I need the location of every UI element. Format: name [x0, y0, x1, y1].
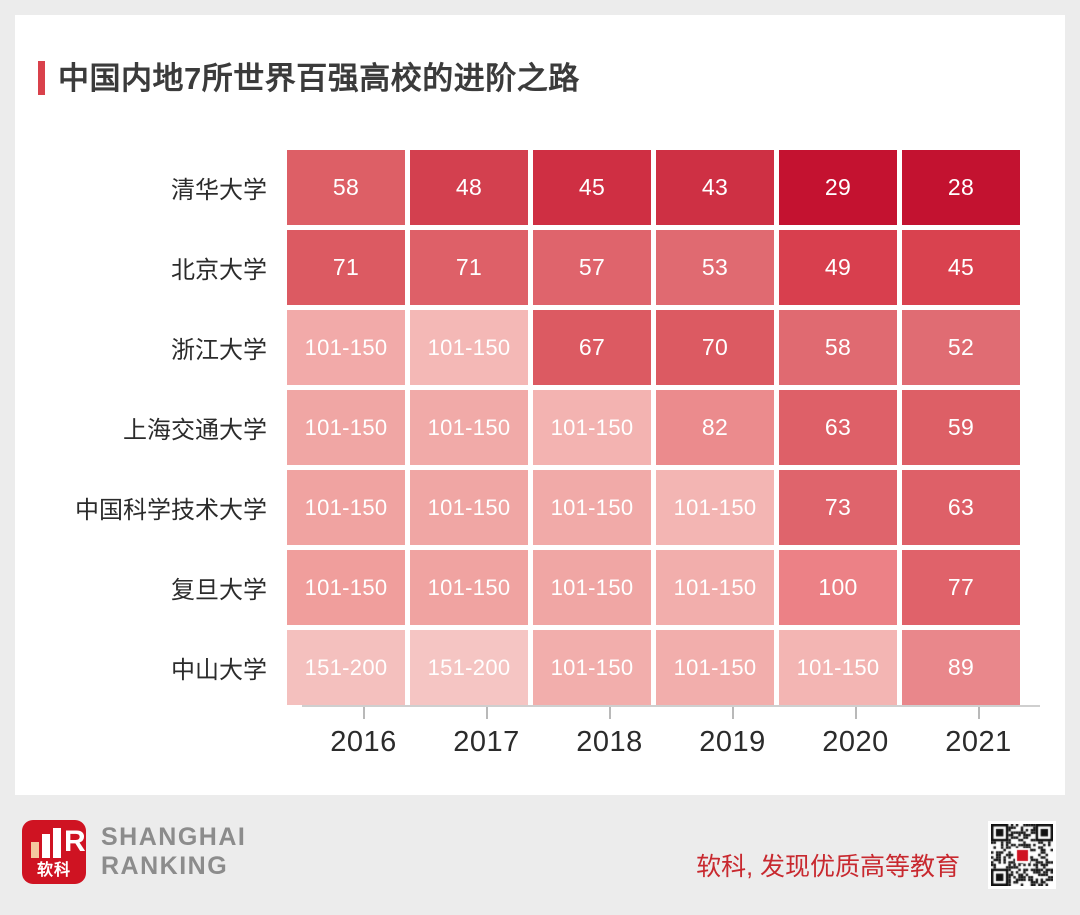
title-text: 中国内地7所世界百强高校的进阶之路 — [58, 63, 580, 94]
heatmap-cell[interactable]: 45 — [533, 150, 651, 225]
heatmap-cell[interactable]: 77 — [902, 550, 1020, 625]
logo-bar-3 — [53, 828, 61, 858]
x-tick: 2018 — [548, 707, 671, 759]
page-title: 中国内地7所世界百强高校的进阶之路 — [38, 55, 580, 101]
heatmap-row-cells: 101-150101-150101-150101-15010077 — [287, 550, 1020, 625]
x-tick-label: 2016 — [330, 726, 397, 759]
heatmap-cell[interactable]: 151-200 — [287, 630, 405, 705]
heatmap-row-cells: 717157534945 — [287, 230, 1020, 305]
logo-mark-icon: R 软科 — [22, 820, 86, 884]
logo-chinese-name: 软科 — [22, 856, 86, 880]
heatmap-cell[interactable]: 101-150 — [410, 310, 528, 385]
heatmap-cell[interactable]: 101-150 — [287, 310, 405, 385]
x-tick-mark — [855, 707, 857, 719]
x-tick-mark — [732, 707, 734, 719]
heatmap-row-cells: 584845432928 — [287, 150, 1020, 225]
x-tick-label: 2021 — [945, 726, 1012, 759]
heatmap-row-cells: 101-150101-15067705852 — [287, 310, 1020, 385]
row-label: 浙江大学 — [15, 310, 287, 385]
x-tick-mark — [363, 707, 365, 719]
heatmap-cell[interactable]: 101-150 — [287, 470, 405, 545]
heatmap-cell[interactable]: 101-150 — [656, 470, 774, 545]
heatmap-grid: 清华大学584845432928北京大学717157534945浙江大学101-… — [15, 150, 1065, 710]
x-tick-mark — [978, 707, 980, 719]
logo-wordmark-line2: RANKING — [101, 852, 246, 881]
chart-card: 中国内地7所世界百强高校的进阶之路 清华大学584845432928北京大学71… — [15, 15, 1065, 795]
heatmap-cell[interactable]: 73 — [779, 470, 897, 545]
heatmap-cell[interactable]: 101-150 — [533, 550, 651, 625]
heatmap-row-cells: 101-150101-150101-150101-1507363 — [287, 470, 1020, 545]
x-tick-mark — [609, 707, 611, 719]
heatmap-cell[interactable]: 58 — [779, 310, 897, 385]
logo-letter: R — [64, 828, 78, 858]
heatmap-cell[interactable]: 57 — [533, 230, 651, 305]
x-tick-label: 2020 — [822, 726, 889, 759]
heatmap-cell[interactable]: 101-150 — [656, 550, 774, 625]
heatmap-cell[interactable]: 101-150 — [410, 470, 528, 545]
heatmap-row: 北京大学717157534945 — [15, 230, 1065, 305]
x-tick-label: 2017 — [453, 726, 520, 759]
heatmap-cell[interactable]: 59 — [902, 390, 1020, 465]
x-axis-ticks: 201620172018201920202021 — [302, 707, 1040, 759]
heatmap-cell[interactable]: 52 — [902, 310, 1020, 385]
row-label: 中山大学 — [15, 630, 287, 705]
heatmap-cell[interactable]: 151-200 — [410, 630, 528, 705]
heatmap-cell[interactable]: 89 — [902, 630, 1020, 705]
x-tick: 2019 — [671, 707, 794, 759]
heatmap-cell[interactable]: 48 — [410, 150, 528, 225]
heatmap-row: 复旦大学101-150101-150101-150101-15010077 — [15, 550, 1065, 625]
x-tick-label: 2019 — [699, 726, 766, 759]
logo-bar-2 — [42, 834, 50, 858]
qr-code-canvas — [991, 824, 1053, 886]
heatmap-row: 浙江大学101-150101-15067705852 — [15, 310, 1065, 385]
heatmap-cell[interactable]: 71 — [287, 230, 405, 305]
heatmap-cell[interactable]: 101-150 — [410, 390, 528, 465]
heatmap-cell[interactable]: 58 — [287, 150, 405, 225]
x-tick: 2021 — [917, 707, 1040, 759]
heatmap-cell[interactable]: 101-150 — [656, 630, 774, 705]
logo-wordmark-line1: SHANGHAI — [101, 823, 246, 852]
x-tick: 2020 — [794, 707, 917, 759]
heatmap-cell[interactable]: 29 — [779, 150, 897, 225]
heatmap-cell[interactable]: 101-150 — [533, 390, 651, 465]
heatmap-cell[interactable]: 100 — [779, 550, 897, 625]
heatmap-cell[interactable]: 63 — [779, 390, 897, 465]
heatmap-cell[interactable]: 101-150 — [410, 550, 528, 625]
x-tick-mark — [486, 707, 488, 719]
heatmap-cell[interactable]: 101-150 — [779, 630, 897, 705]
heatmap-cell[interactable]: 101-150 — [287, 550, 405, 625]
heatmap-cell[interactable]: 49 — [779, 230, 897, 305]
heatmap-cell[interactable]: 53 — [656, 230, 774, 305]
heatmap-cell[interactable]: 67 — [533, 310, 651, 385]
x-tick: 2017 — [425, 707, 548, 759]
heatmap-cell[interactable]: 28 — [902, 150, 1020, 225]
heatmap-row: 清华大学584845432928 — [15, 150, 1065, 225]
row-label: 复旦大学 — [15, 550, 287, 625]
footer-bar: R 软科 SHANGHAI RANKING 软科, 发现优质高等教育 — [0, 795, 1080, 915]
shanghairanking-logo: R 软科 SHANGHAI RANKING — [22, 820, 246, 884]
footer-tagline: 软科, 发现优质高等教育 — [696, 847, 960, 883]
row-label: 清华大学 — [15, 150, 287, 225]
heatmap-cell[interactable]: 82 — [656, 390, 774, 465]
logo-wordmark: SHANGHAI RANKING — [101, 823, 246, 881]
heatmap-row: 中国科学技术大学101-150101-150101-150101-1507363 — [15, 470, 1065, 545]
heatmap-cell[interactable]: 45 — [902, 230, 1020, 305]
row-label: 中国科学技术大学 — [15, 470, 287, 545]
x-tick-label: 2018 — [576, 726, 643, 759]
row-label: 上海交通大学 — [15, 390, 287, 465]
title-accent-bar — [38, 61, 45, 95]
heatmap-cell[interactable]: 101-150 — [533, 630, 651, 705]
row-label: 北京大学 — [15, 230, 287, 305]
heatmap-row: 中山大学151-200151-200101-150101-150101-1508… — [15, 630, 1065, 705]
heatmap-cell[interactable]: 43 — [656, 150, 774, 225]
heatmap-row-cells: 101-150101-150101-150826359 — [287, 390, 1020, 465]
heatmap-row: 上海交通大学101-150101-150101-150826359 — [15, 390, 1065, 465]
heatmap-cell[interactable]: 71 — [410, 230, 528, 305]
heatmap-cell[interactable]: 101-150 — [533, 470, 651, 545]
x-tick: 2016 — [302, 707, 425, 759]
qr-code[interactable] — [988, 821, 1056, 889]
heatmap-cell[interactable]: 70 — [656, 310, 774, 385]
heatmap-cell[interactable]: 101-150 — [287, 390, 405, 465]
heatmap-cell[interactable]: 63 — [902, 470, 1020, 545]
heatmap-row-cells: 151-200151-200101-150101-150101-15089 — [287, 630, 1020, 705]
